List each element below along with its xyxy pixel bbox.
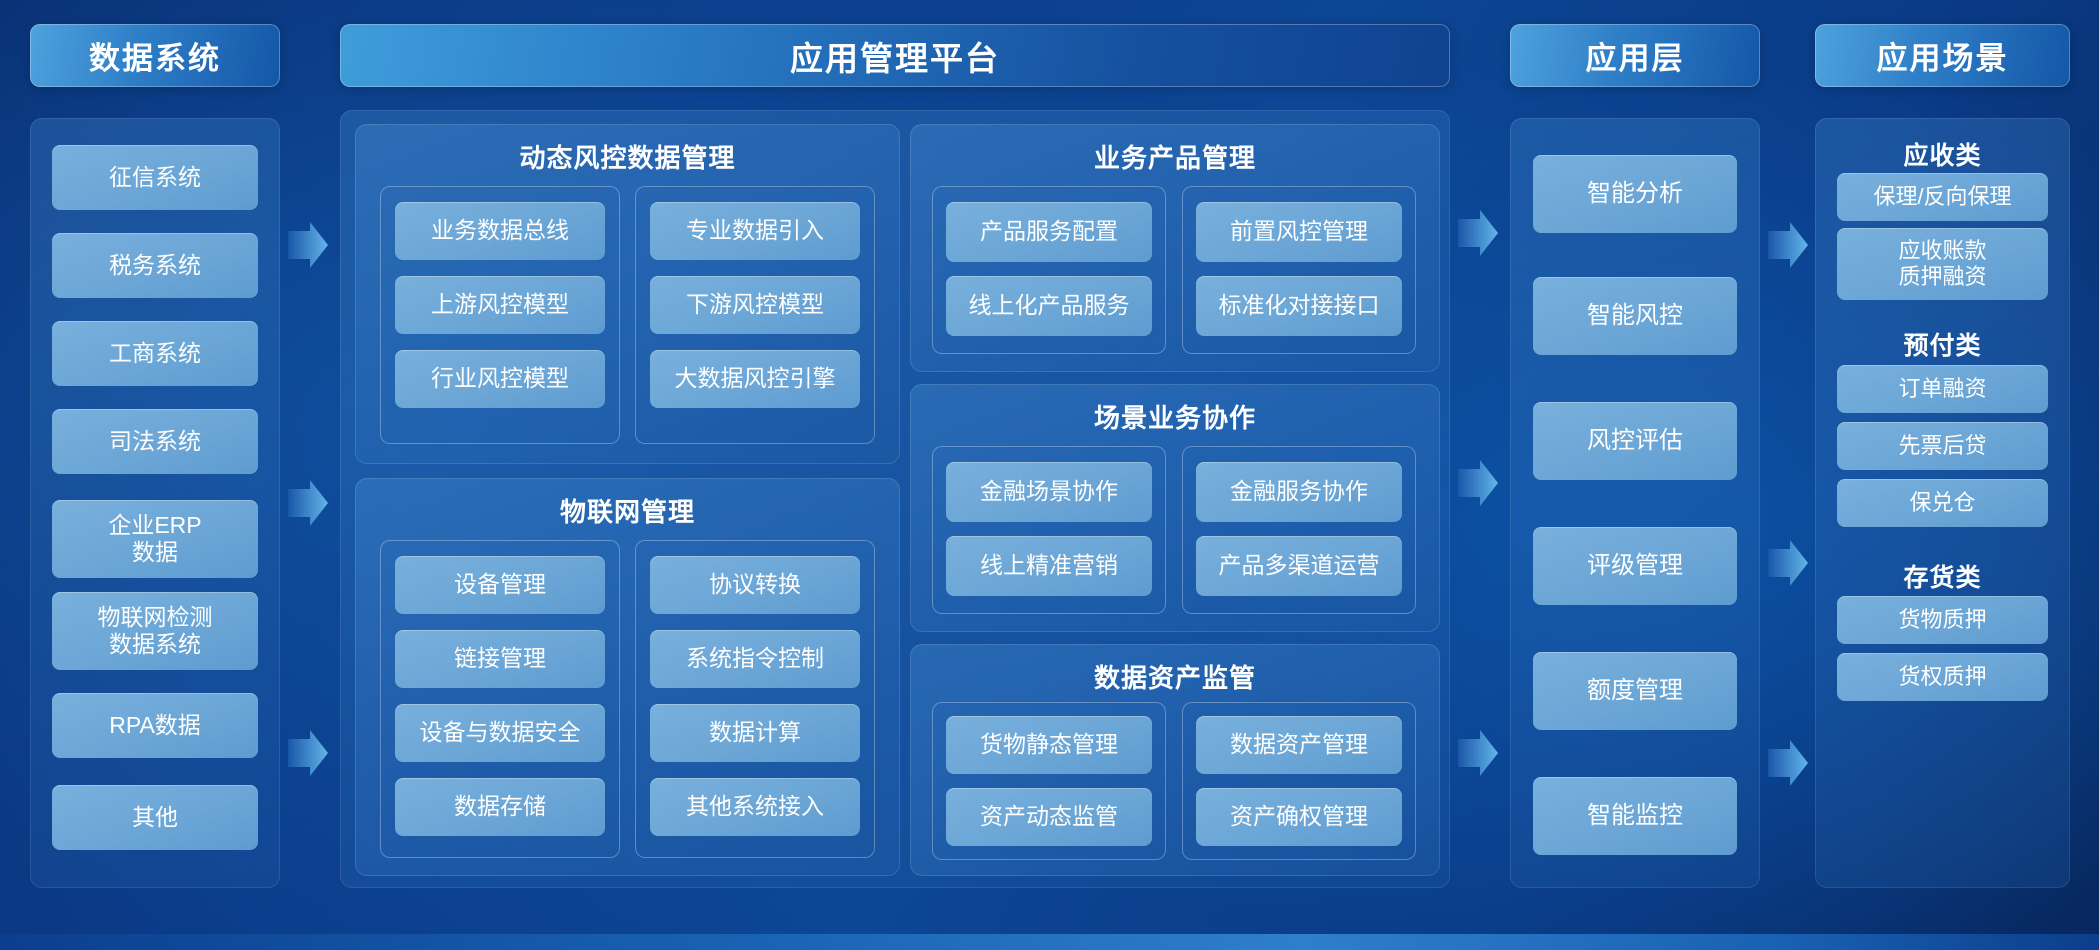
data-system-item-5[interactable]: 物联网检测 数据系统 bbox=[52, 592, 258, 670]
module-1-right-item-2[interactable]: 数据计算 bbox=[650, 704, 860, 762]
module-1-left-item-1[interactable]: 链接管理 bbox=[395, 630, 605, 688]
data-system-item-6[interactable]: RPA数据 bbox=[52, 693, 258, 758]
chevron-right-arrow-icon bbox=[1768, 740, 1808, 786]
column-header-data-systems: 数据系统 bbox=[30, 24, 280, 87]
module-business-product-management: 业务产品管理 产品服务配置 线上化产品服务 前置风控管理 标准化对接接口 bbox=[910, 124, 1440, 372]
module-2-right-item-0[interactable]: 前置风控管理 bbox=[1196, 202, 1402, 262]
data-system-item-0[interactable]: 征信系统 bbox=[52, 145, 258, 210]
module-1-left-item-2[interactable]: 设备与数据安全 bbox=[395, 704, 605, 762]
module-1-left-item-0[interactable]: 设备管理 bbox=[395, 556, 605, 614]
module-title: 场景业务协作 bbox=[910, 398, 1440, 435]
module-3-left-item-1[interactable]: 线上精准营销 bbox=[946, 536, 1152, 596]
module-scenario-business-collaboration: 场景业务协作 金融场景协作 线上精准营销 金融服务协作 产品多渠道运营 bbox=[910, 384, 1440, 632]
module-0-right-item-0[interactable]: 专业数据引入 bbox=[650, 202, 860, 260]
column-header-application-layer: 应用层 bbox=[1510, 24, 1760, 87]
module-1-right-item-0[interactable]: 协议转换 bbox=[650, 556, 860, 614]
module-data-asset-supervision: 数据资产监管 货物静态管理 资产动态监管 数据资产管理 资产确权管理 bbox=[910, 644, 1440, 876]
module-0-left-item-2[interactable]: 行业风控模型 bbox=[395, 350, 605, 408]
module-0-left-item-1[interactable]: 上游风控模型 bbox=[395, 276, 605, 334]
module-3-left-item-0[interactable]: 金融场景协作 bbox=[946, 462, 1152, 522]
module-4-left-item-1[interactable]: 资产动态监管 bbox=[946, 788, 1152, 846]
data-system-item-3[interactable]: 司法系统 bbox=[52, 409, 258, 474]
module-0-right-item-2[interactable]: 大数据风控引擎 bbox=[650, 350, 860, 408]
scenario-1-item-2[interactable]: 保兑仓 bbox=[1837, 479, 2048, 527]
scenario-1-item-0[interactable]: 订单融资 bbox=[1837, 365, 2048, 413]
module-iot-management: 物联网管理 设备管理 链接管理 设备与数据安全 数据存储 协议转换 系统指令控制… bbox=[355, 478, 900, 876]
module-dynamic-risk-data-management: 动态风控数据管理 业务数据总线 上游风控模型 行业风控模型 专业数据引入 下游风… bbox=[355, 124, 900, 464]
chevron-right-arrow-icon bbox=[288, 222, 328, 268]
panel-application-scenarios: 应收类 保理/反向保理 应收账款 质押融资 预付类 订单融资 先票后贷 保兑仓 … bbox=[1815, 118, 2070, 888]
chevron-right-arrow-icon bbox=[1458, 730, 1498, 776]
module-title: 动态风控数据管理 bbox=[355, 138, 900, 175]
scenario-1-item-1[interactable]: 先票后贷 bbox=[1837, 422, 2048, 470]
module-4-right-item-0[interactable]: 数据资产管理 bbox=[1196, 716, 1402, 774]
module-2-left-item-1[interactable]: 线上化产品服务 bbox=[946, 276, 1152, 336]
module-2-left-item-0[interactable]: 产品服务配置 bbox=[946, 202, 1152, 262]
module-1-right-item-3[interactable]: 其他系统接入 bbox=[650, 778, 860, 836]
scenario-group-label-1: 预付类 bbox=[1815, 326, 2070, 362]
column-header-platform: 应用管理平台 bbox=[340, 24, 1450, 87]
chevron-right-arrow-icon bbox=[1768, 222, 1808, 268]
chevron-right-arrow-icon bbox=[288, 730, 328, 776]
module-2-right-item-1[interactable]: 标准化对接接口 bbox=[1196, 276, 1402, 336]
module-0-left-item-0[interactable]: 业务数据总线 bbox=[395, 202, 605, 260]
chevron-right-arrow-icon bbox=[1458, 210, 1498, 256]
module-4-left-item-0[interactable]: 货物静态管理 bbox=[946, 716, 1152, 774]
scenario-0-item-1[interactable]: 应收账款 质押融资 bbox=[1837, 228, 2048, 300]
module-4-right-item-1[interactable]: 资产确权管理 bbox=[1196, 788, 1402, 846]
module-title: 数据资产监管 bbox=[910, 658, 1440, 695]
data-system-item-2[interactable]: 工商系统 bbox=[52, 321, 258, 386]
data-system-item-4[interactable]: 企业ERP 数据 bbox=[52, 500, 258, 578]
data-system-item-7[interactable]: 其他 bbox=[52, 785, 258, 850]
chevron-right-arrow-icon bbox=[288, 480, 328, 526]
column-header-application-scenarios: 应用场景 bbox=[1815, 24, 2070, 87]
module-0-right-item-1[interactable]: 下游风控模型 bbox=[650, 276, 860, 334]
module-title: 业务产品管理 bbox=[910, 138, 1440, 175]
scenario-2-item-0[interactable]: 货物质押 bbox=[1837, 596, 2048, 644]
scenario-group-label-0: 应收类 bbox=[1815, 136, 2070, 172]
data-system-item-1[interactable]: 税务系统 bbox=[52, 233, 258, 298]
scenario-group-label-2: 存货类 bbox=[1815, 558, 2070, 594]
scenario-0-item-0[interactable]: 保理/反向保理 bbox=[1837, 173, 2048, 221]
module-title: 物联网管理 bbox=[355, 492, 900, 529]
module-1-right-item-1[interactable]: 系统指令控制 bbox=[650, 630, 860, 688]
application-layer-item-0[interactable]: 智能分析 bbox=[1533, 155, 1737, 233]
scenario-2-item-1[interactable]: 货权质押 bbox=[1837, 653, 2048, 701]
module-3-right-item-0[interactable]: 金融服务协作 bbox=[1196, 462, 1402, 522]
application-layer-item-5[interactable]: 智能监控 bbox=[1533, 777, 1737, 855]
application-layer-item-2[interactable]: 风控评估 bbox=[1533, 402, 1737, 480]
bottom-accent-strip bbox=[0, 934, 2099, 950]
panel-application-layer bbox=[1510, 118, 1760, 888]
application-layer-item-4[interactable]: 额度管理 bbox=[1533, 652, 1737, 730]
chevron-right-arrow-icon bbox=[1768, 540, 1808, 586]
application-layer-item-1[interactable]: 智能风控 bbox=[1533, 277, 1737, 355]
module-1-left-item-3[interactable]: 数据存储 bbox=[395, 778, 605, 836]
architecture-diagram: 数据系统 应用管理平台 应用层 应用场景 征信系统 税务系统 工商系统 司法系统… bbox=[0, 0, 2099, 950]
module-3-right-item-1[interactable]: 产品多渠道运营 bbox=[1196, 536, 1402, 596]
chevron-right-arrow-icon bbox=[1458, 460, 1498, 506]
application-layer-item-3[interactable]: 评级管理 bbox=[1533, 527, 1737, 605]
